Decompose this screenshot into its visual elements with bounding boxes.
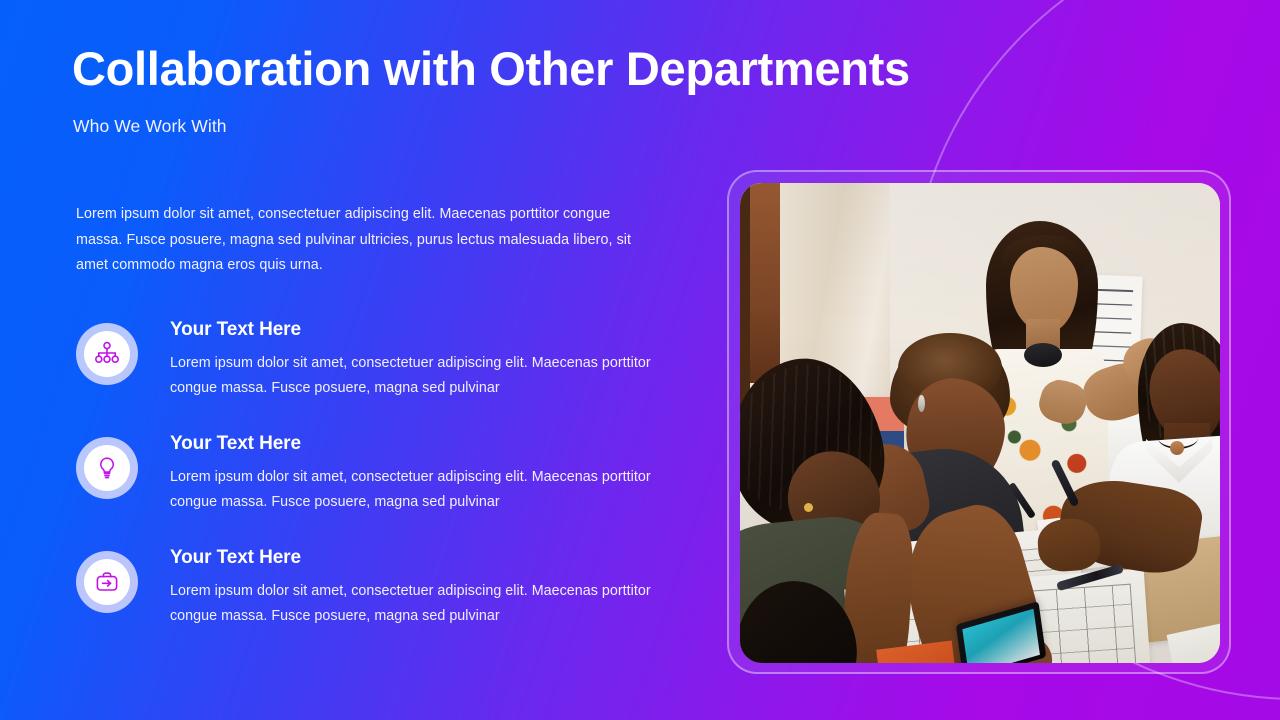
- org-chart-icon: [84, 331, 130, 377]
- image-card-frame: [727, 170, 1231, 674]
- collaboration-photo: [740, 183, 1220, 663]
- page-subtitle: Who We Work With: [73, 116, 227, 137]
- feature-description: Lorem ipsum dolor sit amet, consectetuer…: [170, 579, 670, 629]
- intro-paragraph: Lorem ipsum dolor sit amet, consectetuer…: [76, 202, 646, 279]
- left-content-column: Collaboration with Other Departments Who…: [72, 0, 692, 720]
- feature-text-block: Your Text Here Lorem ipsum dolor sit ame…: [170, 318, 670, 401]
- feature-icon-ring: [76, 551, 138, 613]
- feature-item[interactable]: Your Text Here Lorem ipsum dolor sit ame…: [76, 546, 692, 660]
- feature-icon-ring: [76, 323, 138, 385]
- image-card: [740, 183, 1220, 663]
- feature-item[interactable]: Your Text Here Lorem ipsum dolor sit ame…: [76, 318, 692, 432]
- feature-title: Your Text Here: [170, 318, 670, 342]
- feature-title: Your Text Here: [170, 546, 670, 570]
- briefcase-arrow-icon: [84, 559, 130, 605]
- feature-description: Lorem ipsum dolor sit amet, consectetuer…: [170, 465, 670, 515]
- feature-icon-ring: [76, 437, 138, 499]
- feature-title: Your Text Here: [170, 432, 670, 456]
- feature-list: Your Text Here Lorem ipsum dolor sit ame…: [76, 318, 692, 660]
- feature-text-block: Your Text Here Lorem ipsum dolor sit ame…: [170, 432, 670, 515]
- page-title: Collaboration with Other Departments: [72, 44, 910, 95]
- slide-canvas: Collaboration with Other Departments Who…: [0, 0, 1280, 720]
- lightbulb-icon: [84, 445, 130, 491]
- feature-item[interactable]: Your Text Here Lorem ipsum dolor sit ame…: [76, 432, 692, 546]
- feature-description: Lorem ipsum dolor sit amet, consectetuer…: [170, 351, 670, 401]
- feature-text-block: Your Text Here Lorem ipsum dolor sit ame…: [170, 546, 670, 629]
